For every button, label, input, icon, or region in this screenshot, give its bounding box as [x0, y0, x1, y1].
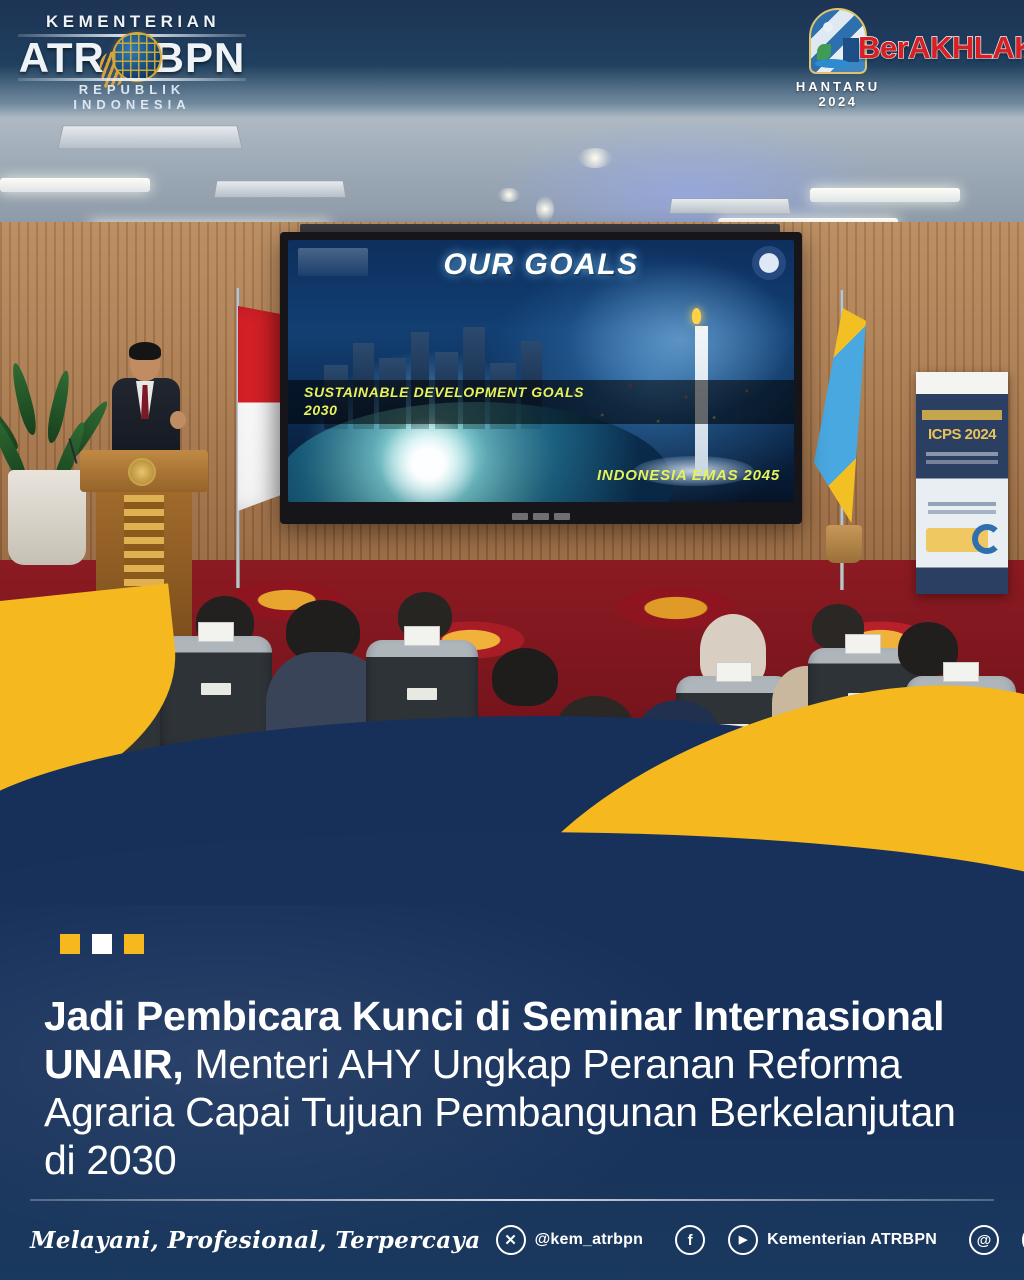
- facebook-youtube-handle[interactable]: Kementerian ATRBPN: [767, 1231, 937, 1249]
- tagline: Melayani, Profesional, Terpercaya: [30, 1227, 481, 1254]
- slide-footer-text: INDONESIA EMAS 2045: [597, 467, 780, 484]
- hantaru-name: HANTARU: [786, 79, 890, 94]
- youtube-icon[interactable]: ▶: [728, 1225, 758, 1255]
- downlight-icon: [498, 188, 520, 202]
- ministry-logo: KEMENTERIAN ATR00BPN REPUBLIK INDONESIA: [18, 10, 248, 102]
- footer-divider: [30, 1199, 994, 1201]
- pendant-lamp-icon: [536, 196, 554, 222]
- slide-subtitle: SUSTAINABLE DEVELOPMENT GOALS 2030: [304, 383, 608, 419]
- globe-emblem-icon: [114, 34, 160, 80]
- ceiling-light: [810, 188, 960, 202]
- ac-vent-icon: [213, 181, 346, 198]
- slide-title: OUR GOALS: [288, 248, 794, 282]
- slide-content: OUR GOALS SUSTAINABLE DEVELOPMENT GOALS …: [288, 240, 794, 502]
- accent-squares: [60, 934, 144, 954]
- logo-rule-bottom: [18, 78, 246, 81]
- ministry-logo-kementerian: KEMENTERIAN: [46, 12, 220, 32]
- plant-pot: [8, 470, 86, 565]
- audience-member: [492, 648, 558, 706]
- berakhlak-logo: BerAKHLAK ❯: [858, 30, 1024, 70]
- ac-vent-icon: [57, 126, 243, 150]
- x-twitter-icon[interactable]: ✕: [496, 1225, 526, 1255]
- keynote-speaker: [108, 345, 186, 460]
- x-twitter-handle[interactable]: @kem_atrbpn: [535, 1231, 644, 1249]
- hantaru-year: 2024: [786, 94, 890, 109]
- institution-flag: [810, 300, 870, 540]
- accent-square-white: [92, 934, 112, 954]
- acronym-atr: ATR: [19, 34, 105, 81]
- accent-square-yellow: [124, 934, 144, 954]
- page-title: Jadi Pembicara Kunci di Seminar Internas…: [44, 992, 974, 1184]
- social-footer: Melayani, Profesional, Terpercaya ✕ @kem…: [30, 1219, 994, 1261]
- social-media-news-card: OUR GOALS SUSTAINABLE DEVELOPMENT GOALS …: [0, 0, 1024, 1280]
- icps-rollup-banner: ICPS 2024: [916, 372, 1008, 594]
- podium-emblem-icon: [128, 458, 156, 486]
- ministry-logo-republic: REPUBLIK INDONESIA: [18, 82, 246, 112]
- facebook-icon[interactable]: f: [675, 1225, 705, 1255]
- berakhlak-text: BerAKHLAK: [858, 30, 1024, 65]
- accent-square-yellow: [60, 934, 80, 954]
- presentation-screen: OUR GOALS SUSTAINABLE DEVELOPMENT GOALS …: [280, 232, 802, 524]
- indonesian-flag: [212, 300, 268, 515]
- downlight-icon: [578, 148, 612, 168]
- acronym-bpn: BPN: [154, 34, 246, 81]
- ac-vent-icon: [669, 198, 792, 214]
- threads-icon[interactable]: @: [969, 1225, 999, 1255]
- tv-control-buttons: [512, 513, 570, 520]
- ceiling-light: [0, 178, 150, 192]
